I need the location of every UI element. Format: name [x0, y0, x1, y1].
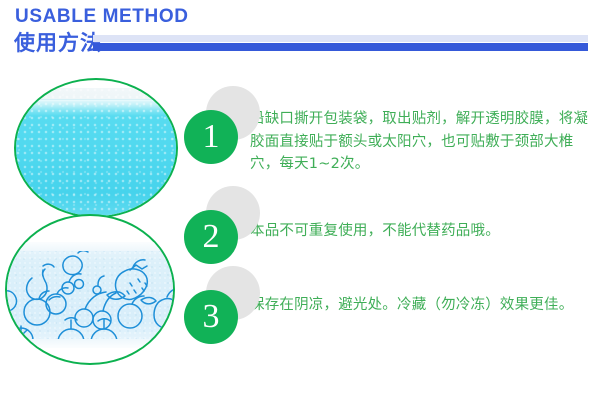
step-marker-2: 2 — [184, 186, 260, 266]
fruit-pattern-package-photo — [5, 214, 175, 365]
cooling-gel-patch-photo — [14, 78, 178, 218]
gel-sheet-surface — [14, 88, 178, 218]
package-surface — [5, 242, 175, 348]
step-number-3: 3 — [184, 290, 238, 344]
page-title-chinese: 使用方法 — [14, 30, 102, 56]
step-marker-3: 3 — [184, 266, 260, 346]
step-number-2: 2 — [184, 210, 238, 264]
step-description-1: 沿缺口撕开包装袋，取出贴剂，解开透明胶膜，将凝胶面直接贴于额头或太阳穴，也可贴敷… — [250, 108, 590, 176]
step-marker-1: 1 — [184, 86, 260, 166]
step-description-3: 保存在阴凉，避光处。冷藏（勿冷冻）效果更佳。 — [250, 294, 590, 317]
step-description-2: 本品不可重复使用，不能代替药品哦。 — [250, 220, 590, 243]
package-top-edge — [5, 242, 175, 251]
header-rule-light — [93, 35, 588, 42]
package-bottom-edge — [5, 339, 175, 348]
page-title-english: USABLE METHOD — [15, 6, 189, 28]
step-number-1: 1 — [184, 110, 238, 164]
gel-highlight — [14, 100, 178, 116]
header-rule-dark — [93, 43, 588, 51]
section-header: USABLE METHOD 使用方法 — [0, 0, 600, 70]
usable-method-infographic: USABLE METHOD 使用方法 — [0, 0, 600, 418]
fruit-line-art-pattern — [5, 242, 175, 348]
